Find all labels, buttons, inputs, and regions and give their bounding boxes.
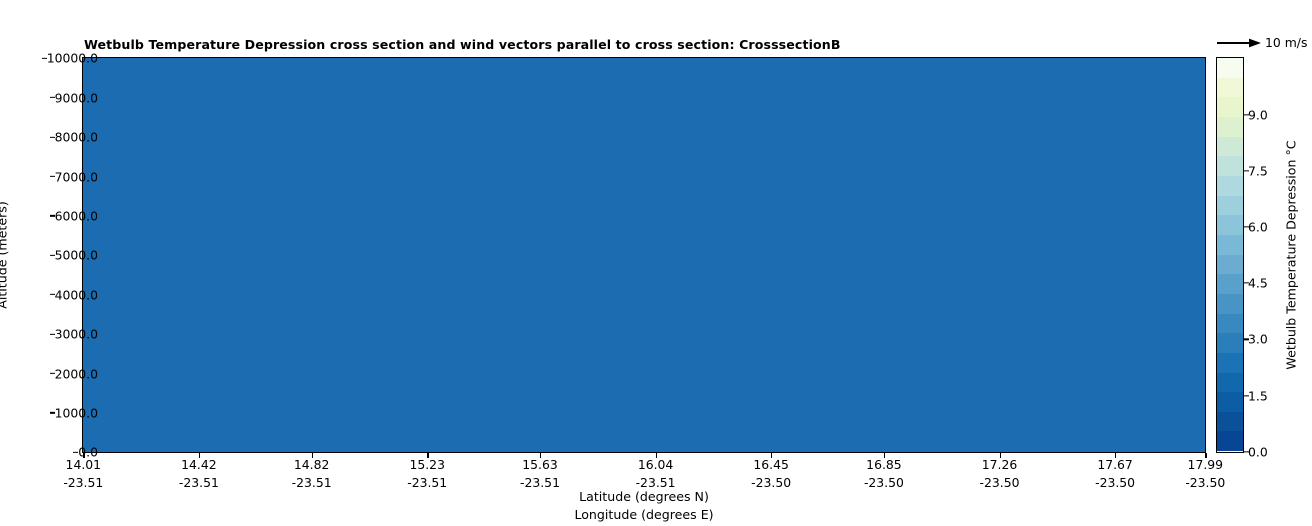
colorbar-tick-mark: [1244, 451, 1249, 452]
x-tick-longitude: -23.51: [520, 474, 560, 492]
y-tick-mark: [50, 255, 55, 256]
colorbar-segment: [1217, 235, 1243, 255]
x-tick-label: 15.23-23.51: [407, 456, 447, 491]
x-tick-label: 14.82-23.51: [292, 456, 332, 491]
x-axis-label-longitude: Longitude (degrees E): [574, 506, 713, 524]
colorbar-tick-label: 3.0: [1248, 332, 1268, 347]
y-tick-label: 6000.0: [55, 208, 98, 223]
y-tick-mark: [50, 294, 55, 295]
y-tick-label: 10000.0: [47, 51, 98, 66]
colorbar-segment: [1217, 333, 1243, 353]
colorbar-segment: [1217, 137, 1243, 157]
x-tick-longitude: -23.51: [63, 474, 103, 492]
cross-section-plot: [82, 57, 1206, 453]
colorbar-segment: [1217, 412, 1243, 432]
x-axis-label: Latitude (degrees N) Longitude (degrees …: [574, 488, 713, 523]
colorbar-tick-label: 7.5: [1248, 163, 1268, 178]
x-tick-longitude: -23.50: [980, 474, 1020, 492]
x-tick-mark: [540, 453, 541, 458]
x-tick-label: 16.04-23.51: [636, 456, 676, 491]
colorbar-tick-mark: [1244, 114, 1249, 115]
x-tick-longitude: -23.51: [292, 474, 332, 492]
colorbar: [1216, 57, 1244, 453]
y-tick-label: 8000.0: [55, 130, 98, 145]
y-axis-label: Altitude (meters): [0, 201, 10, 308]
colorbar-segment: [1217, 78, 1243, 98]
x-tick-label: 17.99-23.50: [1185, 456, 1225, 491]
y-tick-mark: [73, 452, 78, 453]
x-tick-mark: [1115, 453, 1116, 458]
colorbar-tick-mark: [1244, 226, 1249, 227]
y-tick-mark: [50, 176, 55, 177]
y-tick-label: 7000.0: [55, 169, 98, 184]
colorbar-segment: [1217, 392, 1243, 412]
x-tick-label: 14.01-23.51: [63, 456, 103, 491]
colorbar-segment: [1217, 196, 1243, 216]
x-tick-longitude: -23.51: [179, 474, 219, 492]
x-tick-latitude: 14.82: [292, 456, 332, 474]
y-tick-mark: [50, 136, 55, 137]
contours-and-wind-vectors: [83, 58, 1205, 452]
x-tick-mark: [312, 453, 313, 458]
colorbar-label: Wetbulb Temperature Depression °C: [1284, 140, 1299, 369]
y-tick-label: 5000.0: [55, 248, 98, 263]
x-tick-label: 16.45-23.50: [751, 456, 791, 491]
x-tick-longitude: -23.50: [864, 474, 904, 492]
x-tick-latitude: 16.85: [864, 456, 904, 474]
y-tick-label: 1000.0: [55, 405, 98, 420]
colorbar-tick-label: 6.0: [1248, 219, 1268, 234]
x-tick-mark: [427, 453, 428, 458]
colorbar-tick-label: 1.5: [1248, 388, 1268, 403]
title-line-1: Wetbulb Temperature Depression cross sec…: [84, 37, 1204, 53]
colorbar-segment: [1217, 215, 1243, 235]
x-tick-latitude: 17.67: [1095, 456, 1135, 474]
x-axis-label-latitude: Latitude (degrees N): [574, 488, 713, 506]
colorbar-segment: [1217, 97, 1243, 117]
colorbar-segment: [1217, 294, 1243, 314]
x-tick-label: 14.42-23.51: [179, 456, 219, 491]
y-tick-mark: [50, 333, 55, 334]
y-tick-mark: [50, 412, 55, 413]
colorbar-segment: [1217, 117, 1243, 137]
x-tick-label: 17.26-23.50: [980, 456, 1020, 491]
colorbar-segment: [1217, 255, 1243, 275]
colorbar-tick-mark: [1244, 395, 1249, 396]
x-tick-latitude: 15.23: [407, 456, 447, 474]
x-tick-label: 15.63-23.51: [520, 456, 560, 491]
x-tick-latitude: 17.26: [980, 456, 1020, 474]
x-tick-longitude: -23.50: [1185, 474, 1225, 492]
x-tick-mark: [1000, 453, 1001, 458]
colorbar-tick-label: 0.0: [1248, 444, 1268, 459]
quiver-key: 10 m/s: [1213, 33, 1312, 53]
colorbar-tick-mark: [1244, 282, 1249, 283]
colorbar-tick-label: 9.0: [1248, 107, 1268, 122]
colorbar-tick-mark: [1244, 339, 1249, 340]
x-tick-longitude: -23.51: [407, 474, 447, 492]
colorbar-segment: [1217, 353, 1243, 373]
x-tick-latitude: 16.04: [636, 456, 676, 474]
x-tick-latitude: 14.01: [63, 456, 103, 474]
x-tick-mark: [884, 453, 885, 458]
x-tick-latitude: 16.45: [751, 456, 791, 474]
x-tick-mark: [656, 453, 657, 458]
x-tick-latitude: 14.42: [179, 456, 219, 474]
colorbar-segment: [1217, 274, 1243, 294]
x-tick-mark: [771, 453, 772, 458]
colorbar-segment: [1217, 431, 1243, 451]
colorbar-tick-label: 4.5: [1248, 276, 1268, 291]
y-tick-label: 4000.0: [55, 287, 98, 302]
x-tick-mark: [83, 453, 84, 458]
colorbar-segment: [1217, 156, 1243, 176]
y-tick-mark: [50, 215, 55, 216]
y-tick-label: 3000.0: [55, 327, 98, 342]
y-tick-mark: [42, 58, 47, 59]
colorbar-segment: [1217, 373, 1243, 393]
colorbar-segment: [1217, 176, 1243, 196]
x-tick-longitude: -23.50: [751, 474, 791, 492]
y-tick-mark: [50, 373, 55, 374]
wind-arrow-icon: [1213, 33, 1263, 53]
y-tick-label: 2000.0: [55, 366, 98, 381]
colorbar-segment: [1217, 314, 1243, 334]
x-tick-label: 16.85-23.50: [864, 456, 904, 491]
x-tick-label: 17.67-23.50: [1095, 456, 1135, 491]
colorbar-segment: [1217, 58, 1243, 78]
x-tick-latitude: 17.99: [1185, 456, 1225, 474]
x-tick-longitude: -23.50: [1095, 474, 1135, 492]
x-tick-mark: [199, 453, 200, 458]
x-tick-mark: [1205, 453, 1206, 458]
y-tick-mark: [50, 97, 55, 98]
colorbar-tick-mark: [1244, 170, 1249, 171]
y-tick-label: 9000.0: [55, 90, 98, 105]
quiver-key-label: 10 m/s: [1265, 35, 1307, 50]
x-tick-latitude: 15.63: [520, 456, 560, 474]
